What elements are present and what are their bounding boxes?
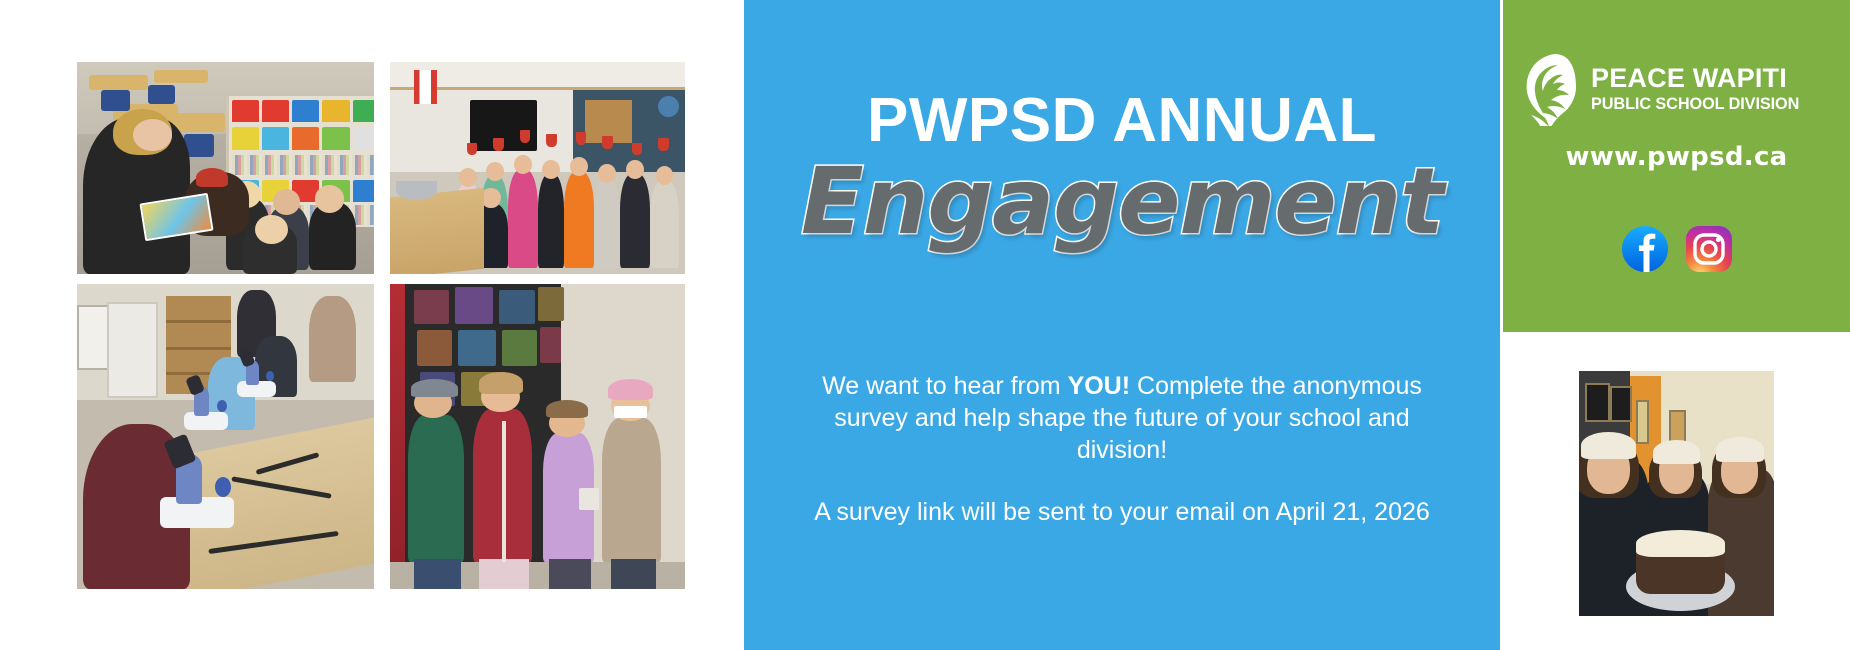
title-block: PWPSD ANNUAL Engagement [744,90,1500,248]
photo-dress-up-day [390,284,685,589]
website-url[interactable]: www.pwpsd.ca [1503,142,1850,172]
wapiti-swoosh-icon [1525,52,1581,126]
photo-collage [77,62,690,589]
social-links [1503,225,1850,273]
brand-panel: PEACE WAPITI PUBLIC SCHOOL DIVISION www.… [1503,0,1850,332]
page-subtitle: Engagement [744,156,1500,248]
photo-classroom-reading-artwork [77,62,374,274]
photo-culinary-cake [1579,371,1774,616]
facebook-icon[interactable] [1621,225,1669,273]
survey-date-notice: A survey link will be sent to your email… [812,496,1432,528]
poster-canvas: PWPSD ANNUAL Engagement We want to hear … [0,0,1850,650]
photo-science-lab [77,284,374,589]
survey-description: We want to hear from YOU! Complete the a… [812,370,1432,466]
main-message-panel: PWPSD ANNUAL Engagement We want to hear … [744,0,1500,650]
photo-classroom-reading [77,62,374,274]
brand-lockup: PEACE WAPITI PUBLIC SCHOOL DIVISION [1525,52,1835,126]
brand-wordmark: PEACE WAPITI PUBLIC SCHOOL DIVISION [1591,65,1799,112]
brand-name-secondary: PUBLIC SCHOOL DIVISION [1591,96,1799,112]
survey-description-emphasis: YOU! [1068,372,1131,400]
photo-science-lab-artwork [77,284,374,589]
photo-classroom-group [390,62,685,274]
survey-description-lead: We want to hear from [822,372,1067,400]
photo-classroom-group-artwork [390,62,685,274]
photo-dress-up-day-artwork [390,284,685,589]
page-title: PWPSD ANNUAL [744,90,1500,152]
brand-name-primary: PEACE WAPITI [1591,65,1799,92]
instagram-icon[interactable] [1685,225,1733,273]
body-block: We want to hear from YOU! Complete the a… [812,370,1432,528]
